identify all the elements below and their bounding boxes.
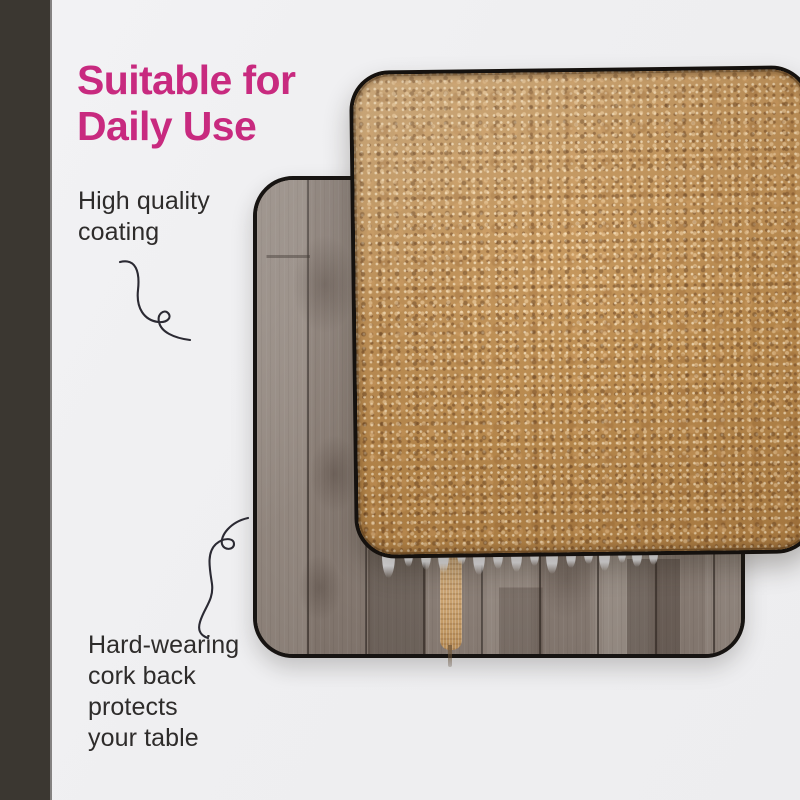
coaster-cork-back [349,65,800,559]
callout-bottom-line-2: cork back [88,661,318,692]
cork-coloured-streak-tail [448,645,452,667]
callout-bottom-line-1: Hard-wearing [88,630,318,661]
left-accent-band-edge [50,0,52,800]
cork-edge-bevel [353,69,800,555]
left-accent-band [0,0,50,800]
callout-top-line-1: High quality [78,186,293,217]
callout-top-line-2: coating [78,217,293,248]
page-title: Suitable for Daily Use [77,58,407,150]
headline-line-2: Daily Use [77,104,407,150]
product-feature-image: Suitable for Daily Use High quality coat… [0,0,800,800]
callout-hard-wearing-cork-back: Hard-wearing cork back protects your tab… [88,630,318,754]
headline-line-1: Suitable for [77,58,407,104]
callout-bottom-line-3: protects [88,692,318,723]
callout-high-quality-coating: High quality coating [78,186,293,248]
callout-bottom-line-4: your table [88,723,318,754]
